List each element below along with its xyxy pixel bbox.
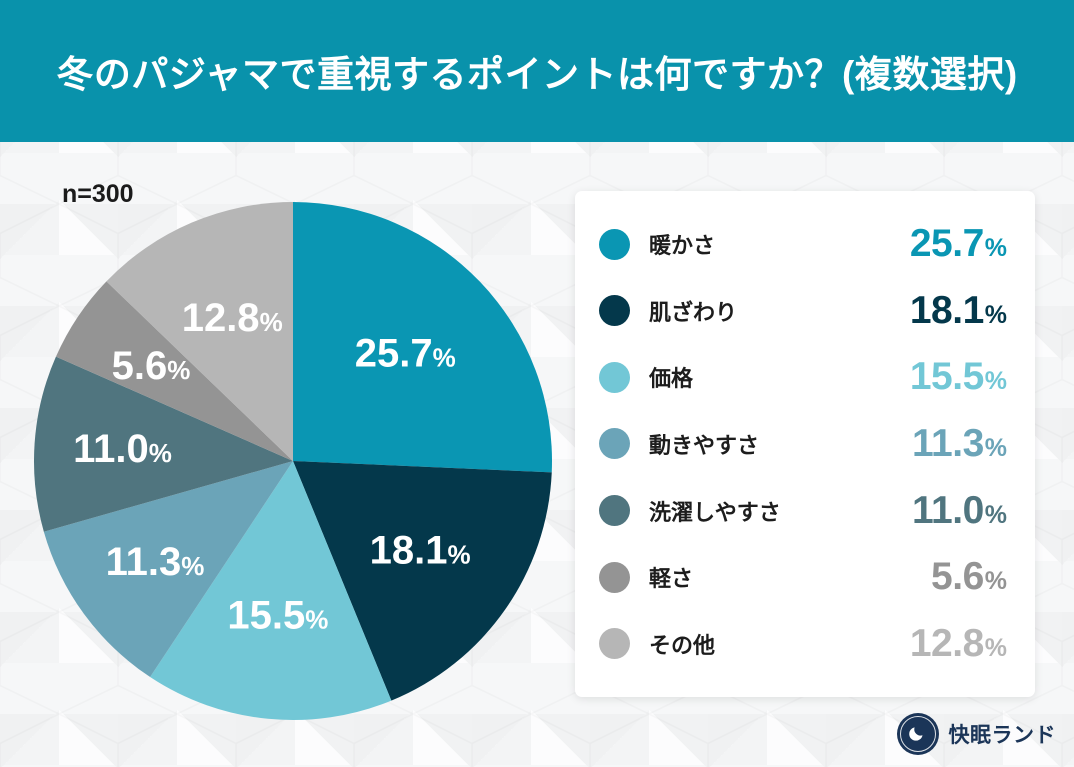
legend-item[interactable]: 動きやすさ11.3% bbox=[599, 413, 1007, 475]
header-bar: 冬のパジャマで重視するポイントは何ですか？(複数選択) bbox=[0, 0, 1074, 142]
legend-color-swatch-icon bbox=[599, 229, 630, 260]
legend-color-swatch-icon bbox=[599, 562, 630, 593]
brand-name: 快眠ランド bbox=[949, 719, 1057, 749]
legend-item[interactable]: 暖かさ25.7% bbox=[599, 213, 1007, 275]
legend-item-value-unit: % bbox=[985, 434, 1007, 463]
brand-logo: 快眠ランド bbox=[897, 713, 1057, 755]
legend-item-value-number: 5.6 bbox=[931, 555, 984, 599]
legend-item-value: 18.1% bbox=[910, 289, 1007, 333]
legend-item-value-number: 11.0 bbox=[912, 489, 984, 533]
legend-item-value: 25.7% bbox=[910, 222, 1007, 266]
legend-item-value-unit: % bbox=[985, 567, 1007, 596]
legend-item-value-number: 11.3 bbox=[912, 422, 984, 466]
legend-item[interactable]: 軽さ5.6% bbox=[599, 546, 1007, 608]
infographic-root: 冬のパジャマで重視するポイントは何ですか？(複数選択) n=300 25.7%1… bbox=[0, 0, 1074, 767]
legend-item-value-unit: % bbox=[985, 234, 1007, 263]
legend-item-label: 洗濯しやすさ bbox=[649, 495, 781, 527]
legend-item[interactable]: 洗濯しやすさ11.0% bbox=[599, 480, 1007, 542]
legend-item-label: 価格 bbox=[649, 361, 693, 393]
legend-item[interactable]: その他12.8% bbox=[599, 613, 1007, 675]
legend-color-swatch-icon bbox=[599, 362, 630, 393]
sample-size-label: n=300 bbox=[62, 180, 134, 209]
legend-item-value: 11.0% bbox=[912, 489, 1007, 533]
legend-card: 暖かさ25.7%肌ざわり18.1%価格15.5%動きやすさ11.3%洗濯しやすさ… bbox=[575, 191, 1035, 697]
legend-item-label: 動きやすさ bbox=[649, 428, 759, 460]
legend-item[interactable]: 価格15.5% bbox=[599, 346, 1007, 408]
sleep-badge-icon bbox=[897, 713, 939, 755]
legend-item-value: 5.6% bbox=[931, 555, 1007, 599]
legend-color-swatch-icon bbox=[599, 495, 630, 526]
legend-item-value-unit: % bbox=[985, 634, 1007, 663]
legend-item-value: 12.8% bbox=[910, 622, 1007, 666]
legend-item-label: その他 bbox=[649, 628, 715, 660]
legend-item-label: 暖かさ bbox=[649, 228, 715, 260]
legend-color-swatch-icon bbox=[599, 428, 630, 459]
legend-color-swatch-icon bbox=[599, 295, 630, 326]
legend-item-label: 肌ざわり bbox=[649, 295, 737, 327]
legend-item-value-number: 15.5 bbox=[910, 355, 984, 399]
legend-item-value-number: 25.7 bbox=[910, 222, 984, 266]
legend-item-value-number: 18.1 bbox=[910, 289, 984, 333]
legend-item-label: 軽さ bbox=[649, 561, 693, 593]
legend-item-value-number: 12.8 bbox=[910, 622, 984, 666]
legend-color-swatch-icon bbox=[599, 628, 630, 659]
page-title: 冬のパジャマで重視するポイントは何ですか？(複数選択) bbox=[56, 44, 1017, 98]
legend-item-value: 15.5% bbox=[910, 355, 1007, 399]
legend-item-value: 11.3% bbox=[912, 422, 1007, 466]
legend-item-value-unit: % bbox=[985, 301, 1007, 330]
legend-item-value-unit: % bbox=[985, 367, 1007, 396]
pie-chart: 25.7%18.1%15.5%11.3%11.0%5.6%12.8% bbox=[33, 201, 553, 721]
legend-item-value-unit: % bbox=[985, 501, 1007, 530]
legend-item[interactable]: 肌ざわり18.1% bbox=[599, 280, 1007, 342]
